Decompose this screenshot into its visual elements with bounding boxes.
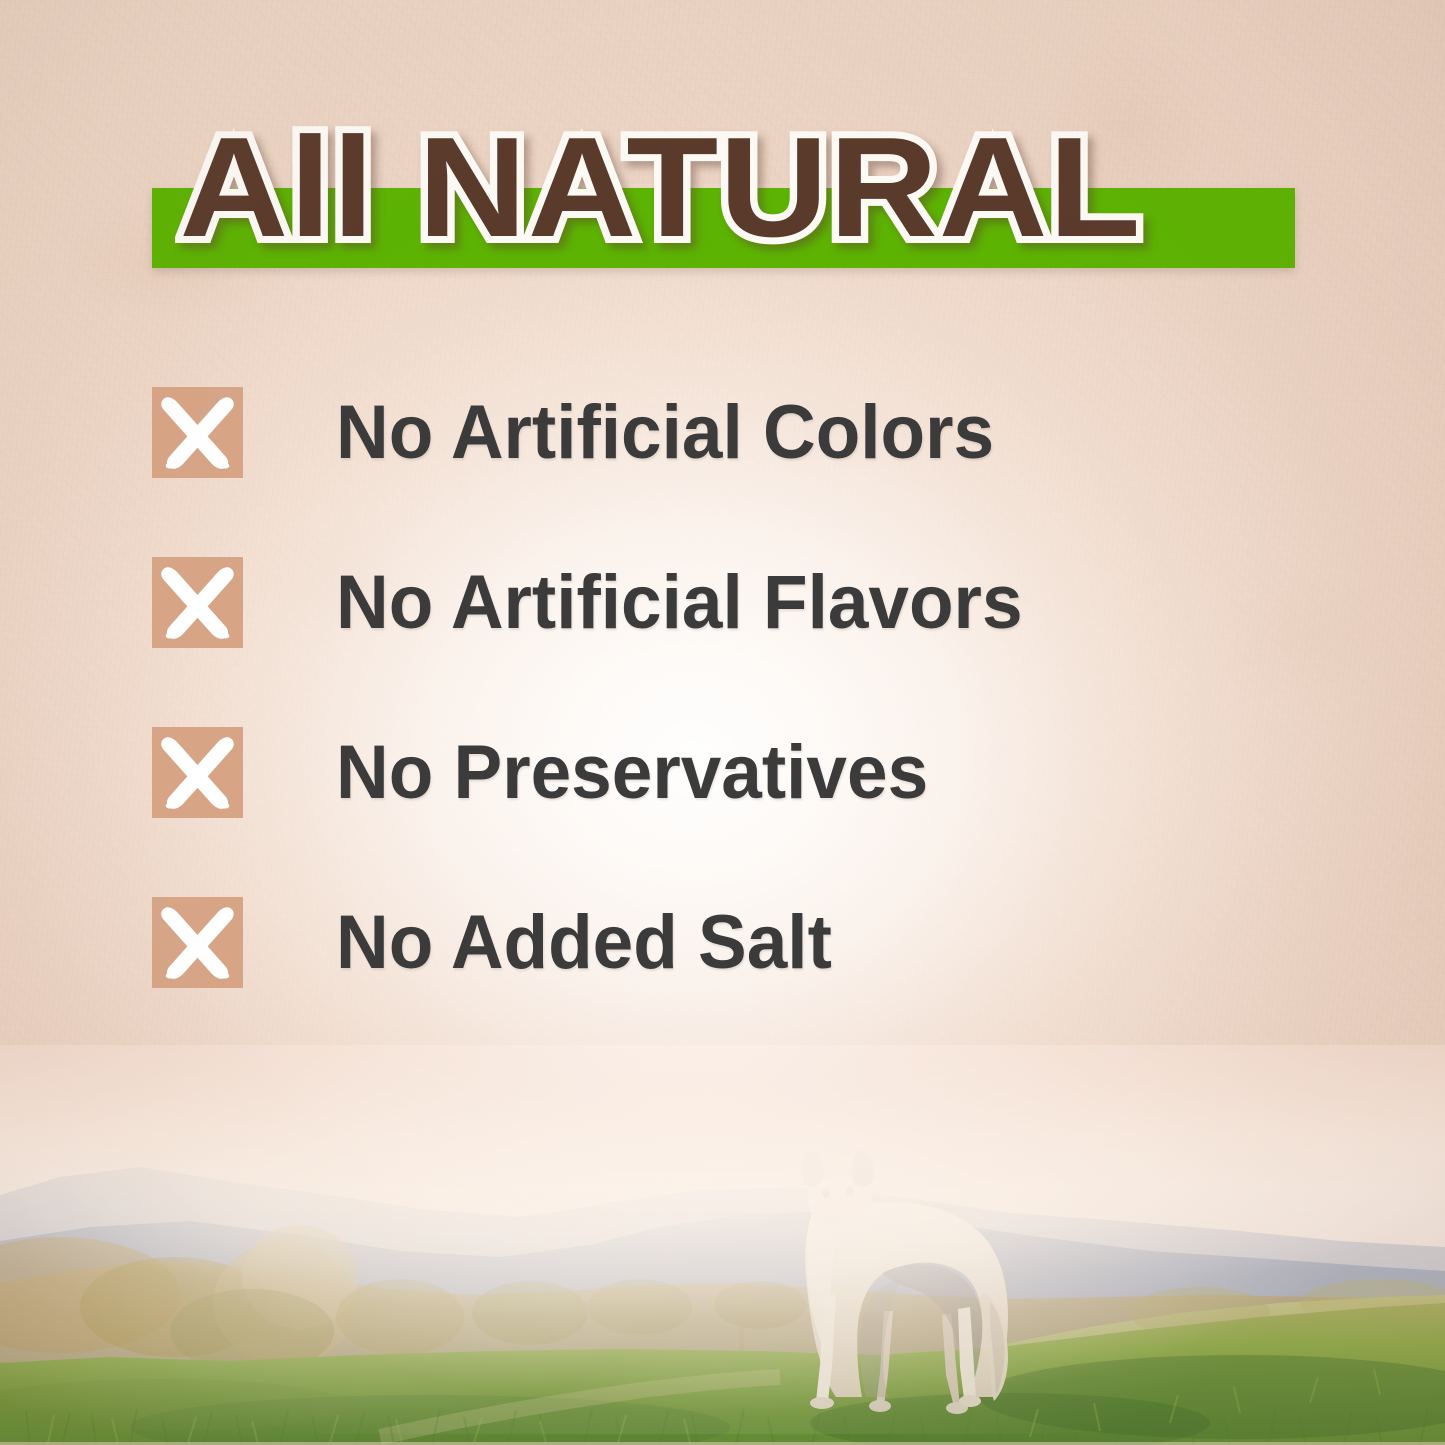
x-mark-icon <box>152 557 243 648</box>
headline-text: All NATURAL <box>152 113 1142 263</box>
feature-item-no-added-salt: No Added Salt <box>152 897 1292 988</box>
x-mark-icon <box>152 897 243 988</box>
headline-banner: All NATURAL <box>152 108 1312 268</box>
feature-item-no-artificial-flavors: No Artificial Flavors <box>152 557 1292 648</box>
feature-list: No Artificial Colors No Artificial Flavo… <box>152 387 1292 988</box>
feature-label: No Artificial Flavors <box>336 563 1023 643</box>
x-mark-icon <box>152 387 243 478</box>
feature-label: No Artificial Colors <box>336 393 994 473</box>
feature-item-no-preservatives: No Preservatives <box>152 727 1292 818</box>
feature-label: No Added Salt <box>336 903 832 983</box>
feature-item-no-artificial-colors: No Artificial Colors <box>152 387 1292 478</box>
feature-label: No Preservatives <box>336 733 928 813</box>
product-feature-panel: All NATURAL No Artificial Colors <box>0 0 1445 1445</box>
x-mark-icon <box>152 727 243 818</box>
landscape-photo <box>0 1045 1445 1445</box>
